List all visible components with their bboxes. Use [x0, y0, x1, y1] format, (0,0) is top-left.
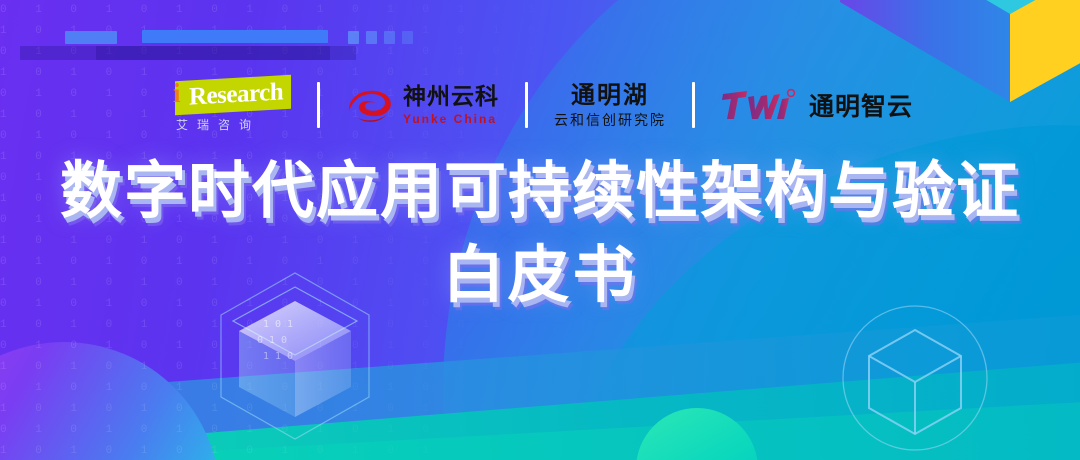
- iresearch-chinese: 艾瑞咨询: [176, 116, 260, 133]
- decor-bar-5: [384, 31, 395, 44]
- teal-wave-band: [0, 346, 1080, 460]
- green-circle-decoration: [636, 408, 758, 460]
- logo-yunke-china[interactable]: 神州云科 Yunke China: [320, 74, 525, 136]
- decor-bar-4: [366, 31, 377, 44]
- decor-bar-shadow-2: [96, 46, 356, 60]
- title-line-1: 数字时代应用可持续性架构与验证: [0, 160, 1080, 222]
- gradient-circle-bottom-left: [0, 342, 220, 460]
- svg-text:010: 010: [257, 335, 293, 346]
- partner-logo-bar: i Research 艾瑞咨询 神州云科 Yunke China 通明湖: [0, 74, 1080, 136]
- title-block: 数字时代应用可持续性架构与验证 白皮书: [0, 160, 1080, 306]
- yunke-chinese: 神州云科: [403, 86, 499, 109]
- teal-wave-band-2: [0, 390, 1080, 460]
- whitepaper-cover-banner: 0 1 0 1 0 1 0 1 0 1 0 1 0 1 0 1 0 1 0 1 …: [0, 0, 1080, 460]
- blue-diagonal-band: [0, 301, 1080, 460]
- yunke-english: Yunke China: [403, 113, 499, 125]
- decor-bar-1: [65, 31, 117, 44]
- iresearch-wordmark: Research: [189, 78, 283, 111]
- title-line-2: 白皮书: [0, 244, 1080, 306]
- logo-tongminghu[interactable]: 通明湖 云和信创研究院: [528, 74, 692, 136]
- decor-bar-6: [402, 31, 413, 44]
- tongminghu-sub-text: 云和信创研究院: [554, 114, 666, 128]
- svg-text:110: 110: [263, 351, 299, 362]
- logo-iresearch[interactable]: i Research 艾瑞咨询: [141, 74, 317, 136]
- logo-tmi[interactable]: 通明智云: [695, 74, 939, 136]
- iresearch-i-mark: i: [173, 80, 181, 107]
- tmi-chinese: 通明智云: [809, 87, 913, 123]
- decor-bar-3: [348, 31, 359, 44]
- yunke-swirl-icon: [346, 85, 394, 125]
- decor-bar-2: [142, 30, 328, 43]
- tmi-wordmark-icon: [721, 88, 801, 122]
- tongminghu-main-text: 通明湖: [571, 83, 649, 107]
- svg-text:101: 101: [263, 319, 299, 330]
- decor-bar-shadow: [20, 46, 330, 60]
- wireframe-cube-icon: [825, 288, 1005, 460]
